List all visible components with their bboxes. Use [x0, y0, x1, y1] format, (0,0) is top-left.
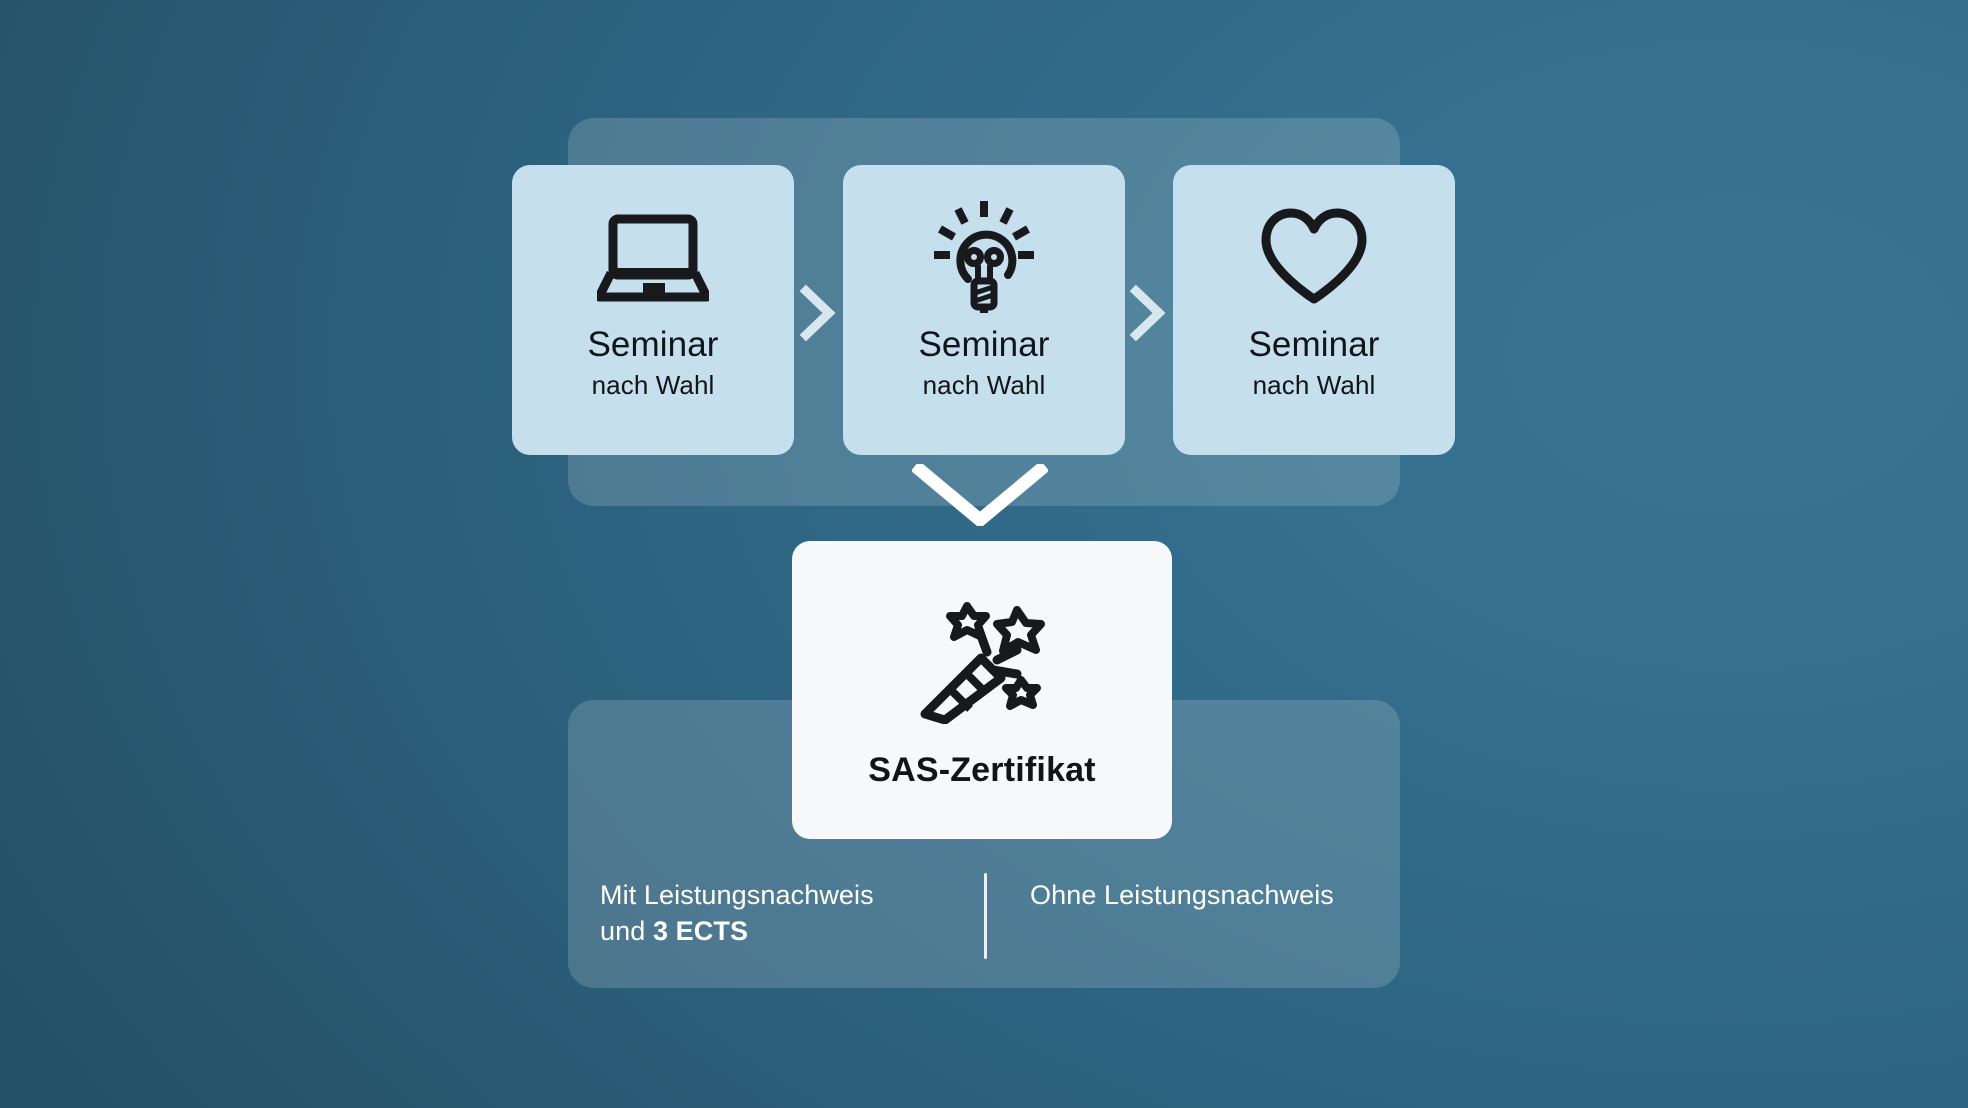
- vertical-divider: [984, 873, 987, 959]
- seminar-card-title: Seminar: [1248, 327, 1379, 364]
- diagram-canvas: Seminar nach Wahl: [0, 0, 1968, 1108]
- seminar-card-subtitle: nach Wahl: [592, 370, 715, 401]
- chevron-right-icon: [1127, 285, 1169, 341]
- party-popper-icon: [907, 585, 1057, 735]
- legend-without-assessment: Ohne Leistungsnachweis: [1030, 877, 1390, 913]
- legend: Mit Leistungsnachweis und 3 ECTS Ohne Le…: [600, 873, 1390, 969]
- seminar-card-subtitle: nach Wahl: [1253, 370, 1376, 401]
- certificate-label: SAS-Zertifikat: [868, 751, 1096, 790]
- chevron-right-icon: [797, 285, 839, 341]
- chevron-down-icon: [912, 464, 1048, 526]
- seminar-card-title: Seminar: [587, 327, 718, 364]
- lightbulb-icon: [930, 197, 1038, 317]
- laptop-icon: [597, 197, 709, 317]
- seminar-card-title: Seminar: [918, 327, 1049, 364]
- legend-left-line-2: und 3 ECTS: [600, 913, 1000, 949]
- legend-with-assessment: Mit Leistungsnachweis und 3 ECTS: [600, 877, 1000, 950]
- legend-left-prefix: und: [600, 916, 653, 946]
- seminar-card-subtitle: nach Wahl: [923, 370, 1046, 401]
- legend-left-line-1: Mit Leistungsnachweis: [600, 877, 1000, 913]
- heart-icon: [1260, 197, 1368, 317]
- certificate-card[interactable]: SAS-Zertifikat: [792, 541, 1172, 839]
- legend-left-ects: 3 ECTS: [653, 916, 748, 946]
- seminar-card-1[interactable]: Seminar nach Wahl: [512, 165, 794, 455]
- seminar-card-3[interactable]: Seminar nach Wahl: [1173, 165, 1455, 455]
- seminar-card-2[interactable]: Seminar nach Wahl: [843, 165, 1125, 455]
